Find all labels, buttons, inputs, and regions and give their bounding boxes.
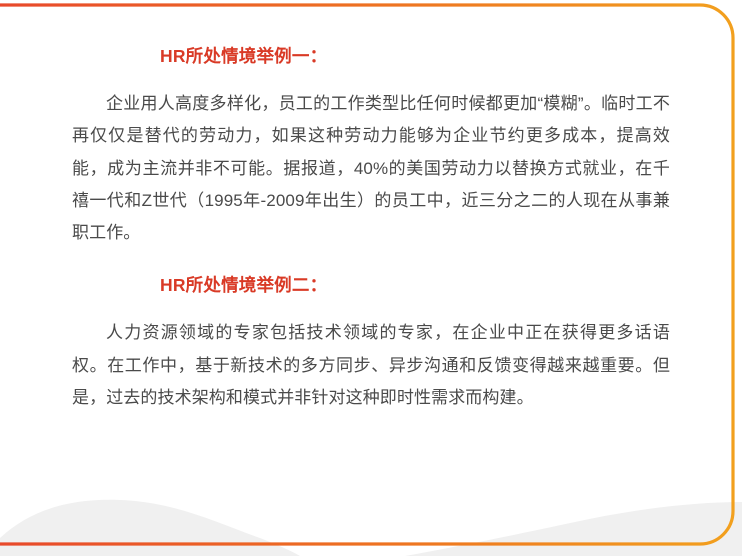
document-page: HR所处情境举例一： 企业用人高度多样化，员工的工作类型比任何时候都更加“模糊”…: [0, 0, 742, 556]
section-one-heading: HR所处情境举例一：: [72, 42, 670, 70]
section-one-paragraph: 企业用人高度多样化，员工的工作类型比任何时候都更加“模糊”。临时工不再仅仅是替代…: [72, 88, 670, 249]
spacer-after-paragraph-one: [72, 249, 670, 271]
spacer-after-heading-one: [72, 70, 670, 88]
document-content: HR所处情境举例一： 企业用人高度多样化，员工的工作类型比任何时候都更加“模糊”…: [0, 0, 742, 556]
section-two-heading: HR所处情境举例二：: [72, 271, 670, 299]
section-two-paragraph: 人力资源领域的专家包括技术领域的专家，在企业中正在获得更多话语权。在工作中，基于…: [72, 317, 670, 414]
spacer-after-heading-two: [72, 299, 670, 317]
